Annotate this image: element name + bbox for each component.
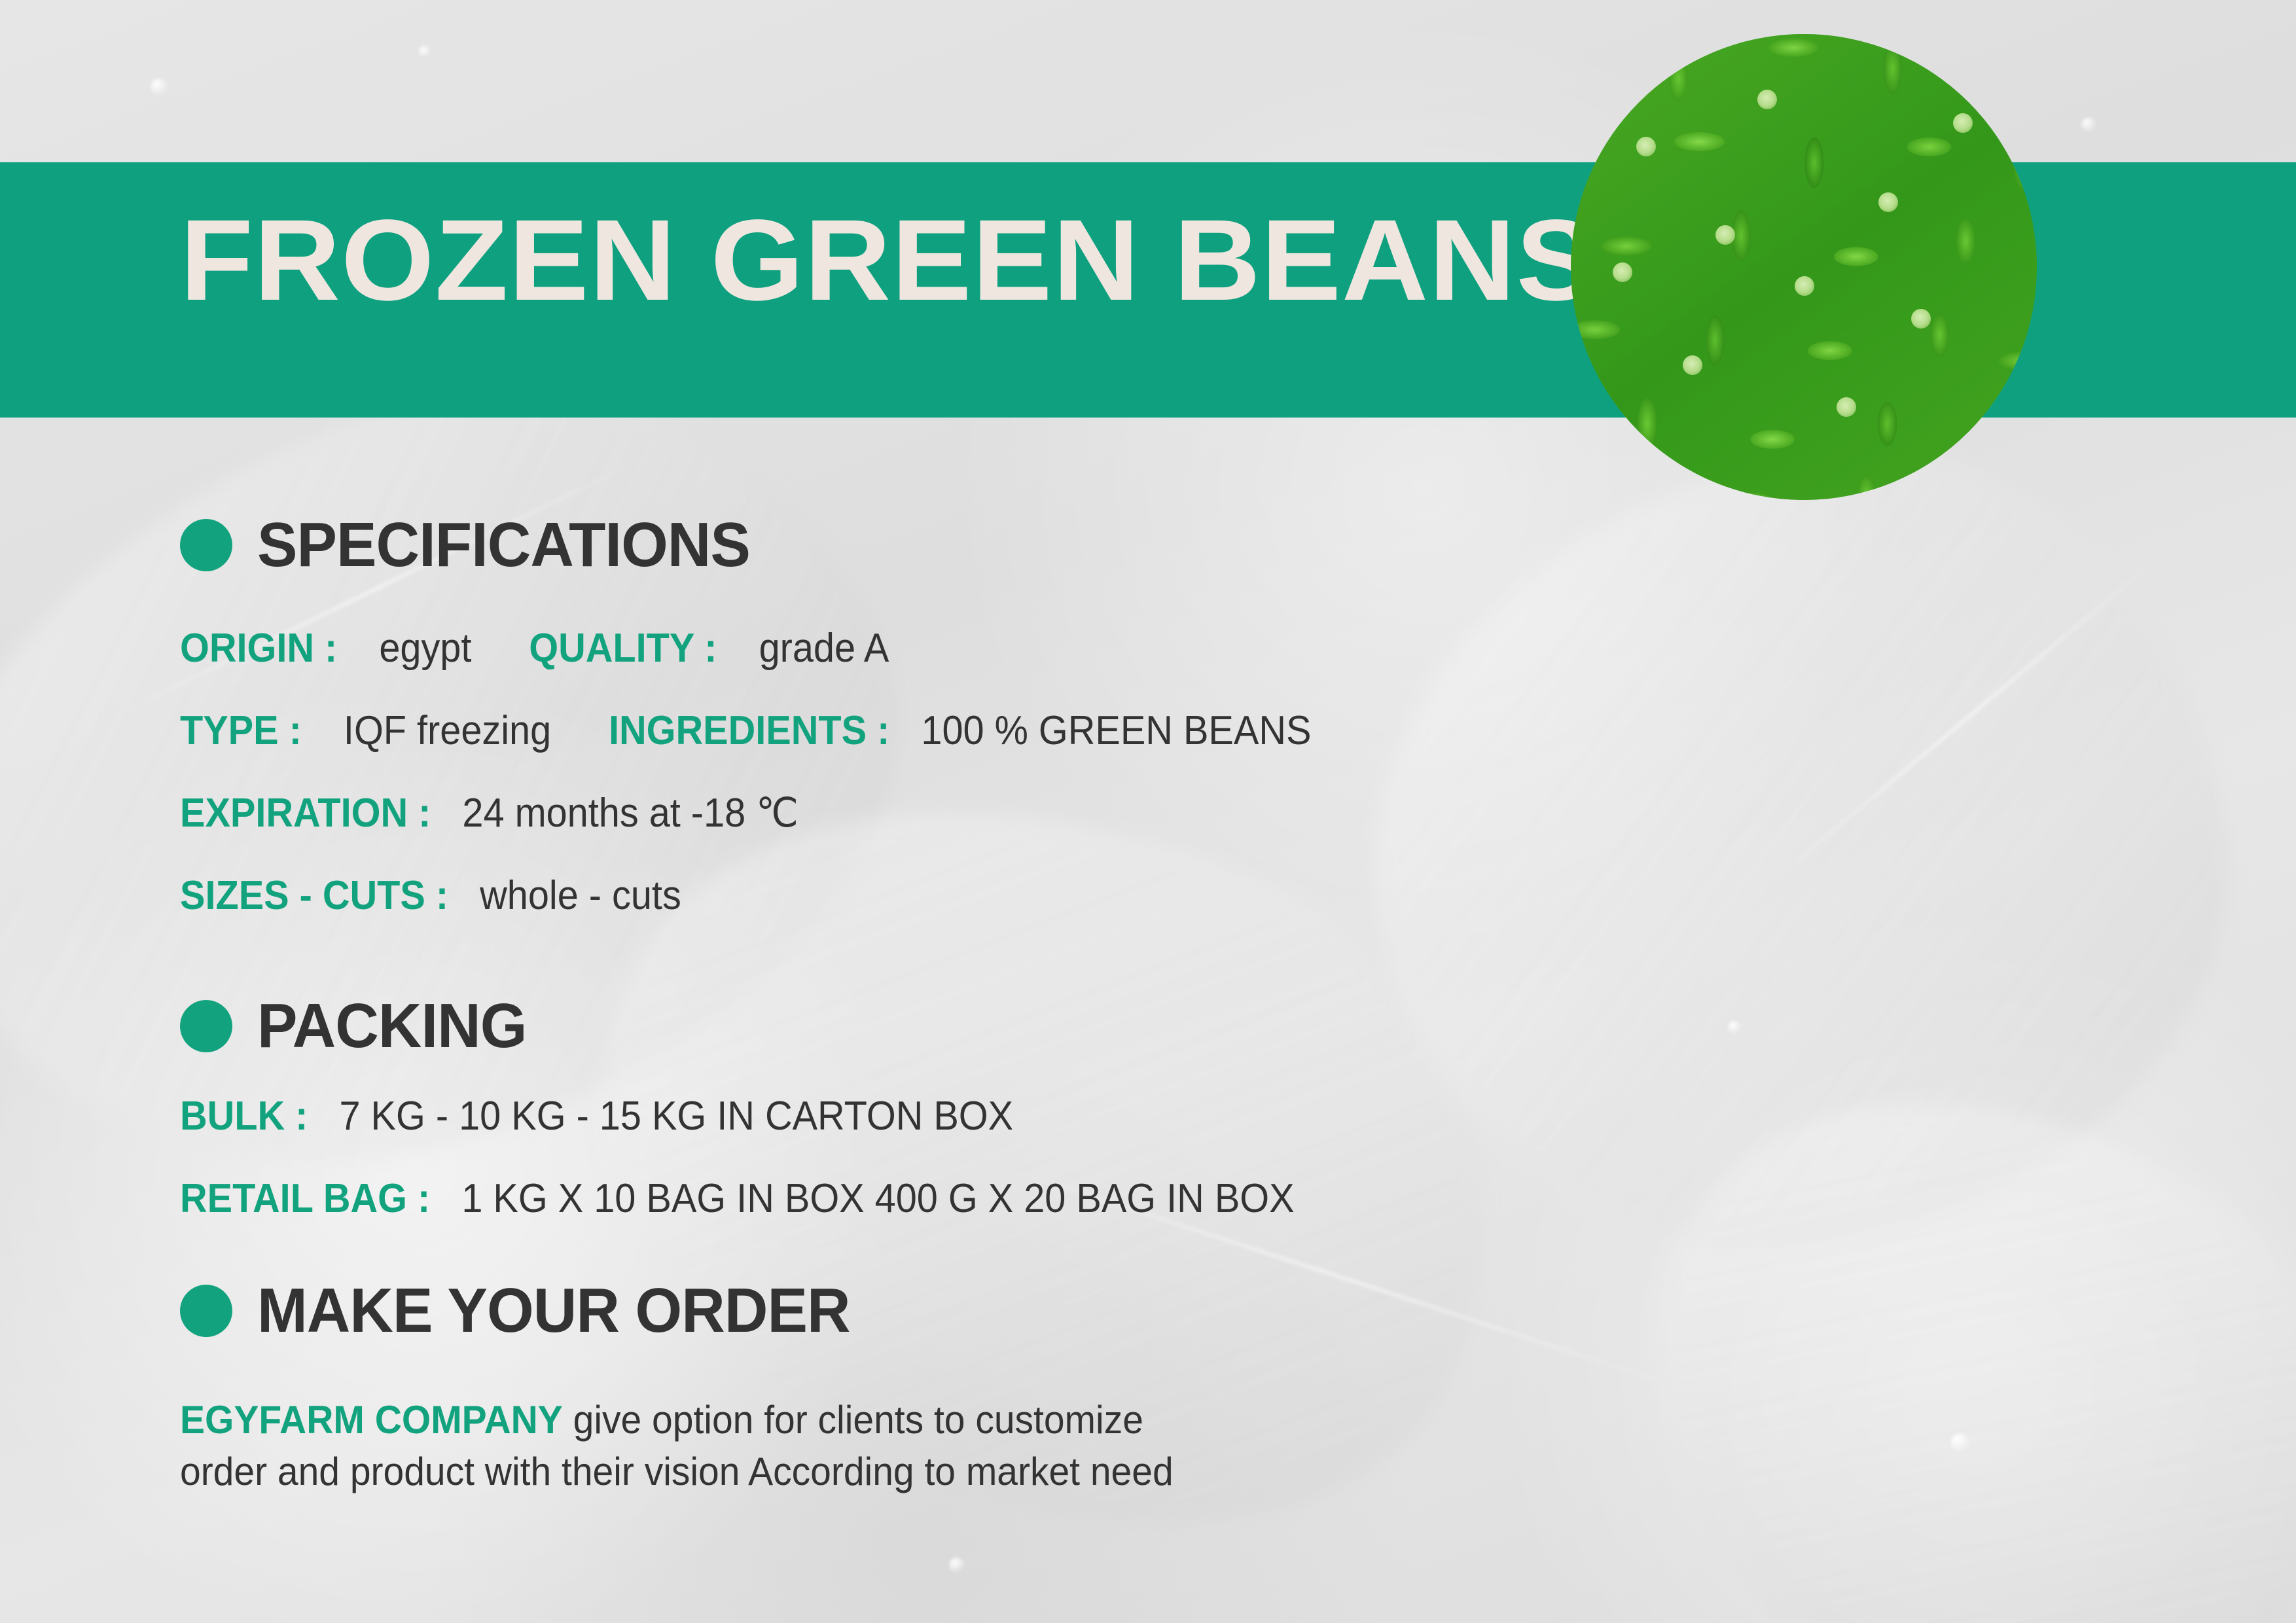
spec-value-origin: egypt xyxy=(379,626,471,671)
order-description-text: EGYFARM COMPANY give option for clients … xyxy=(180,1394,1174,1497)
bean-cut-tip xyxy=(1613,262,1632,282)
packing-label-retail-bag: RETAIL BAG : xyxy=(180,1176,430,1221)
packing-row-retail-bag: RETAIL BAG : 1 KG X 10 BAG IN BOX 400 G … xyxy=(180,1179,1295,1219)
spec-value-expiration: 24 months at -18 ℃ xyxy=(462,791,798,836)
spec-label-origin: ORIGIN : xyxy=(180,626,337,671)
spec-label-sizes-cuts: SIZES - CUTS : xyxy=(180,873,448,918)
section-heading-make-your-order: MAKE YOUR ORDER xyxy=(180,1279,874,1342)
spec-row-sizes-cuts: SIZES - CUTS : whole - cuts xyxy=(180,876,681,916)
spec-label-quality: QUALITY : xyxy=(529,626,717,671)
packing-label-bulk: BULK : xyxy=(180,1094,308,1139)
filled-circle-bullet-icon xyxy=(180,1000,232,1052)
bean-cut-tip xyxy=(1715,225,1735,245)
spec-value-type: IQF freezing xyxy=(344,708,551,753)
background-water-drop xyxy=(2081,118,2096,132)
bean-cut-tip xyxy=(1878,192,1898,212)
section-specifications: SPECIFICATIONS xyxy=(180,514,770,577)
spec-row-expiration: EXPIRATION : 24 months at -18 ℃ xyxy=(180,793,798,834)
spec-label-expiration: EXPIRATION : xyxy=(180,791,431,836)
background-water-drop xyxy=(151,79,168,96)
order-description-line-1-rest: give option for clients to customize xyxy=(563,1398,1143,1442)
product-spec-sheet: FROZEN GREEN BEANS SPECIFICATIONS ORIGIN… xyxy=(0,0,2296,1623)
spec-label-ingredients: INGREDIENTS : xyxy=(609,708,889,753)
filled-circle-bullet-icon xyxy=(180,1285,232,1337)
bean-cut-tip xyxy=(1636,137,1656,156)
bean-cut-tip xyxy=(1683,355,1702,375)
section-title-text: MAKE YOUR ORDER xyxy=(257,1279,850,1342)
background-water-drop xyxy=(1728,1021,1741,1034)
page-title: FROZEN GREEN BEANS xyxy=(180,203,1597,318)
packing-value-bulk: 7 KG - 10 KG - 15 KG IN CARTON BOX xyxy=(339,1094,1013,1139)
green-beans-image xyxy=(1571,34,2037,500)
spec-value-sizes-cuts: whole - cuts xyxy=(480,873,681,918)
spec-row-origin-quality: ORIGIN : egypt QUALITY : grade A xyxy=(180,628,889,669)
bean-cut-tip xyxy=(1911,309,1931,329)
spec-row-type-ingredients: TYPE : IQF freezing INGREDIENTS : 100 % … xyxy=(180,711,1311,751)
bean-cut-tip xyxy=(1953,113,1973,133)
section-packing: PACKING xyxy=(180,995,538,1058)
bean-cut-tip xyxy=(1837,397,1856,417)
spec-value-quality: grade A xyxy=(759,626,889,671)
bean-cut-tip xyxy=(1795,276,1814,296)
company-name: EGYFARM COMPANY xyxy=(180,1398,563,1442)
section-heading-packing: PACKING xyxy=(180,995,538,1058)
background-water-drop xyxy=(949,1558,965,1573)
filled-circle-bullet-icon xyxy=(180,519,232,571)
spec-value-ingredients: 100 % GREEN BEANS xyxy=(921,708,1311,753)
background-water-drop xyxy=(419,46,431,58)
section-title-text: PACKING xyxy=(257,995,526,1058)
product-photo-circle xyxy=(1571,34,2037,500)
spec-label-type: TYPE : xyxy=(180,708,302,753)
order-description-line-1: EGYFARM COMPANY give option for clients … xyxy=(180,1394,1174,1446)
section-title-text: SPECIFICATIONS xyxy=(257,514,750,577)
section-make-your-order: MAKE YOUR ORDER xyxy=(180,1279,874,1342)
order-description-line-2: order and product with their vision Acco… xyxy=(180,1446,1174,1497)
packing-value-retail-bag: 1 KG X 10 BAG IN BOX 400 G X 20 BAG IN B… xyxy=(461,1176,1294,1221)
packing-row-bulk: BULK : 7 KG - 10 KG - 15 KG IN CARTON BO… xyxy=(180,1096,1013,1137)
background-water-drop xyxy=(1950,1433,1970,1453)
section-heading-specifications: SPECIFICATIONS xyxy=(180,514,770,577)
